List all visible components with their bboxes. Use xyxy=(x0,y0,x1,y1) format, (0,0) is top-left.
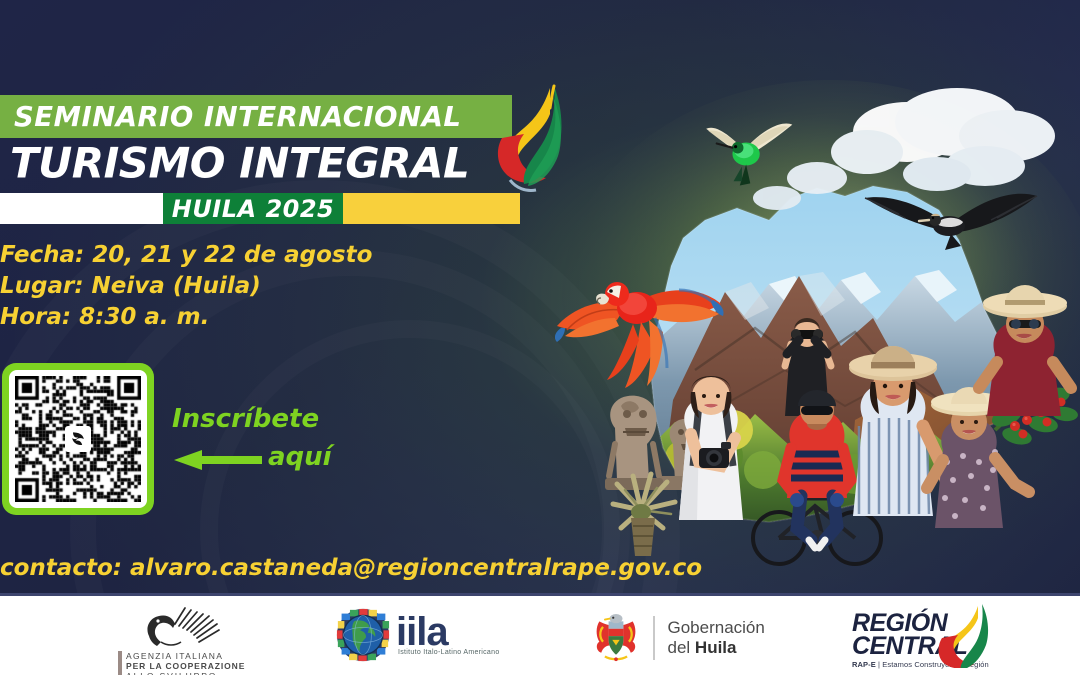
coat-of-arms-icon xyxy=(592,612,640,664)
poster-canvas: SEMINARIO INTERNACIONAL TURISMO INTEGRAL… xyxy=(0,0,1080,675)
iila-wordmark: iila xyxy=(396,615,500,649)
logo-gobernacion-huila: Gobernación del Huila xyxy=(592,612,765,664)
title-row: TURISMO INTEGRAL xyxy=(0,138,512,188)
event-details: Fecha: 20, 21 y 22 de agosto Lugar: Neiv… xyxy=(0,240,420,333)
gobernacion-line2-strong: Huila xyxy=(695,638,737,657)
qr-center-logo-icon xyxy=(65,426,91,452)
aics-line1: AGENZIA ITALIANA xyxy=(126,651,245,661)
edition-text: HUILA 2025 xyxy=(172,195,335,223)
eyebrow-text: SEMINARIO INTERNACIONAL xyxy=(14,101,461,133)
aics-line2: PER LA COOPERAZIONE xyxy=(126,661,245,671)
iila-subtitle: Istituto Italo-Latino Americano xyxy=(398,649,500,656)
register-cta-line1: Inscríbete xyxy=(172,404,319,434)
logo-agenzia-italiana: AGENZIA ITALIANA PER LA COOPERAZIONE ALL… xyxy=(118,604,245,675)
register-cta-line2: aquí xyxy=(268,442,332,472)
contact-line: contacto: alvaro.castaneda@regioncentral… xyxy=(0,555,702,581)
gobernacion-line1: Gobernación xyxy=(668,618,765,638)
qr-code[interactable] xyxy=(2,363,154,515)
register-cta-row: aquí xyxy=(172,443,322,477)
logo-accent-bar xyxy=(118,651,122,675)
white-rule-bar xyxy=(0,193,163,224)
footer-divider xyxy=(0,593,1080,596)
eyebrow-banner: SEMINARIO INTERNACIONAL xyxy=(0,95,512,138)
page-title: TURISMO INTEGRAL xyxy=(10,139,469,188)
logo-iila: iila Istituto Italo-Latino Americano xyxy=(336,608,500,662)
event-time: Hora: 8:30 a. m. xyxy=(0,302,420,333)
arrow-left-icon xyxy=(172,449,262,471)
gobernacion-line2-prefix: del xyxy=(668,638,695,657)
logo-region-central: REGIÓN CENTRAL RAP-E | Estamos Construye… xyxy=(852,612,989,669)
region-central-tag-strong: RAP-E xyxy=(852,660,876,669)
huila-photo-collage xyxy=(555,70,1080,590)
event-date: Fecha: 20, 21 y 22 de agosto xyxy=(0,240,420,271)
logo-divider xyxy=(653,616,655,660)
region-central-flame-icon xyxy=(934,604,996,672)
aics-line3: ALLO SVILUPPO xyxy=(126,671,245,675)
edition-badge: HUILA 2025 xyxy=(163,193,343,224)
colombia-flame-icon xyxy=(494,84,570,200)
event-place: Lugar: Neiva (Huila) xyxy=(0,271,420,302)
dove-icon xyxy=(139,604,225,650)
qr-code-surface[interactable] xyxy=(9,370,147,508)
globe-flags-icon xyxy=(336,608,390,662)
